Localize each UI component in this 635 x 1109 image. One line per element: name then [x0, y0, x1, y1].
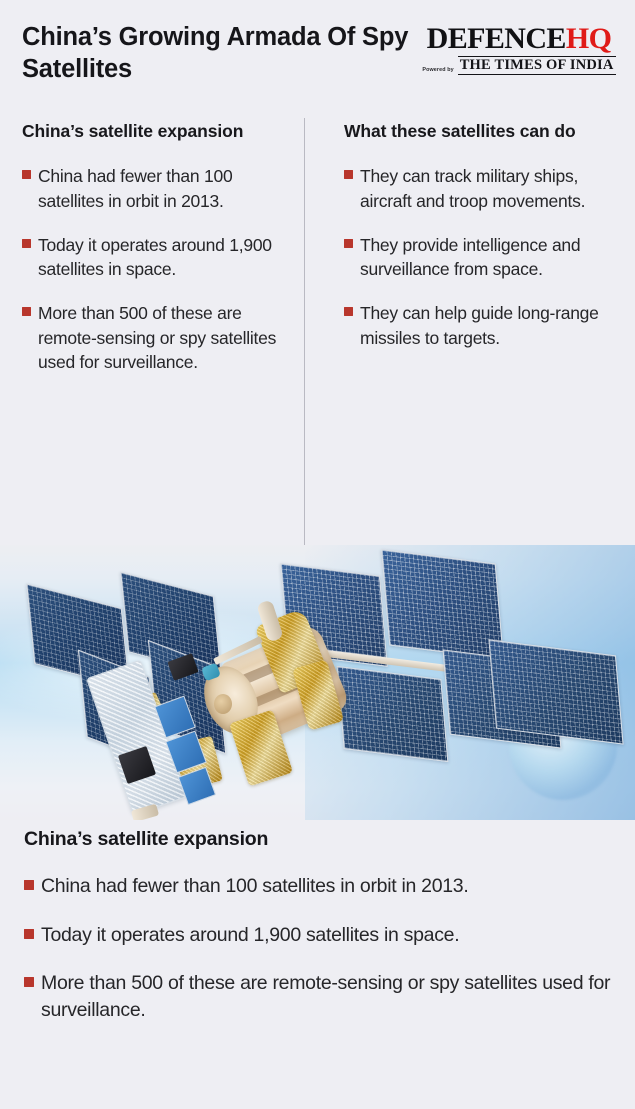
- page-title: China’s Growing Armada Of Spy Satellites: [22, 22, 442, 85]
- solar-panel-right-far-outer: [488, 639, 623, 744]
- square-bullet-icon: [22, 170, 31, 179]
- square-bullet-icon: [344, 239, 353, 248]
- list-item: Today it operates around 1,900 satellite…: [22, 233, 300, 282]
- list-item: They provide intelligence and surveillan…: [344, 233, 617, 282]
- square-bullet-icon: [344, 307, 353, 316]
- satellite-illustration: [0, 545, 635, 820]
- two-column-facts: China’s satellite expansion China had fe…: [0, 110, 635, 374]
- solar-panel-right-upper-outer: [381, 549, 504, 660]
- square-bullet-icon: [24, 929, 34, 939]
- column-divider: [304, 118, 305, 550]
- list-item: More than 500 of these are remote-sensin…: [24, 970, 611, 1023]
- square-bullet-icon: [22, 239, 31, 248]
- satellite-photo: [0, 545, 635, 820]
- docking-port-icon: [214, 694, 232, 714]
- bottom-summary-section: China’s satellite expansion China had fe…: [0, 820, 635, 1045]
- list-item: China had fewer than 100 satellites in o…: [24, 873, 611, 900]
- list-item: Today it operates around 1,900 satellite…: [24, 922, 611, 949]
- list-item: They can track military ships, aircraft …: [344, 164, 617, 213]
- solar-panel-right-lower-inner: [337, 666, 449, 762]
- list-item-text: More than 500 of these are remote-sensin…: [38, 301, 300, 374]
- list-item-text: They provide intelligence and surveillan…: [360, 233, 617, 282]
- column-satellite-expansion: China’s satellite expansion China had fe…: [22, 120, 322, 374]
- square-bullet-icon: [344, 170, 353, 179]
- logo-subline: Powered by THE TIMES OF INDIA: [417, 56, 621, 75]
- column-what-satellites-can-do: What these satellites can do They can tr…: [322, 120, 617, 374]
- list-item-text: Today it operates around 1,900 satellite…: [38, 233, 300, 282]
- logo-text-hq: HQ: [566, 22, 611, 55]
- square-bullet-icon: [24, 880, 34, 890]
- square-bullet-icon: [24, 977, 34, 987]
- logo-publisher-name: THE TIMES OF INDIA: [458, 56, 616, 75]
- list-item-text: China had fewer than 100 satellites in o…: [38, 164, 300, 213]
- logo-wordmark: DEFENCEHQ: [417, 24, 621, 54]
- list-item: More than 500 of these are remote-sensin…: [22, 301, 300, 374]
- header: China’s Growing Armada Of Spy Satellites…: [0, 0, 635, 110]
- logo-powered-by-label: Powered by: [422, 67, 453, 75]
- list-item: China had fewer than 100 satellites in o…: [22, 164, 300, 213]
- logo-text-defence: DEFENCE: [427, 22, 566, 55]
- infographic-page: China’s Growing Armada Of Spy Satellites…: [0, 0, 635, 1109]
- column-left-heading: China’s satellite expansion: [22, 120, 300, 142]
- column-right-heading: What these satellites can do: [344, 120, 617, 142]
- list-item-text: They can help guide long-range missiles …: [360, 301, 617, 350]
- defencehq-logo: DEFENCEHQ Powered by THE TIMES OF INDIA: [417, 24, 621, 75]
- square-bullet-icon: [22, 307, 31, 316]
- list-item-text: More than 500 of these are remote-sensin…: [41, 970, 611, 1023]
- list-item: They can help guide long-range missiles …: [344, 301, 617, 350]
- list-item-text: Today it operates around 1,900 satellite…: [41, 922, 611, 949]
- list-item-text: They can track military ships, aircraft …: [360, 164, 617, 213]
- list-item-text: China had fewer than 100 satellites in o…: [41, 873, 611, 900]
- bottom-heading: China’s satellite expansion: [24, 828, 611, 851]
